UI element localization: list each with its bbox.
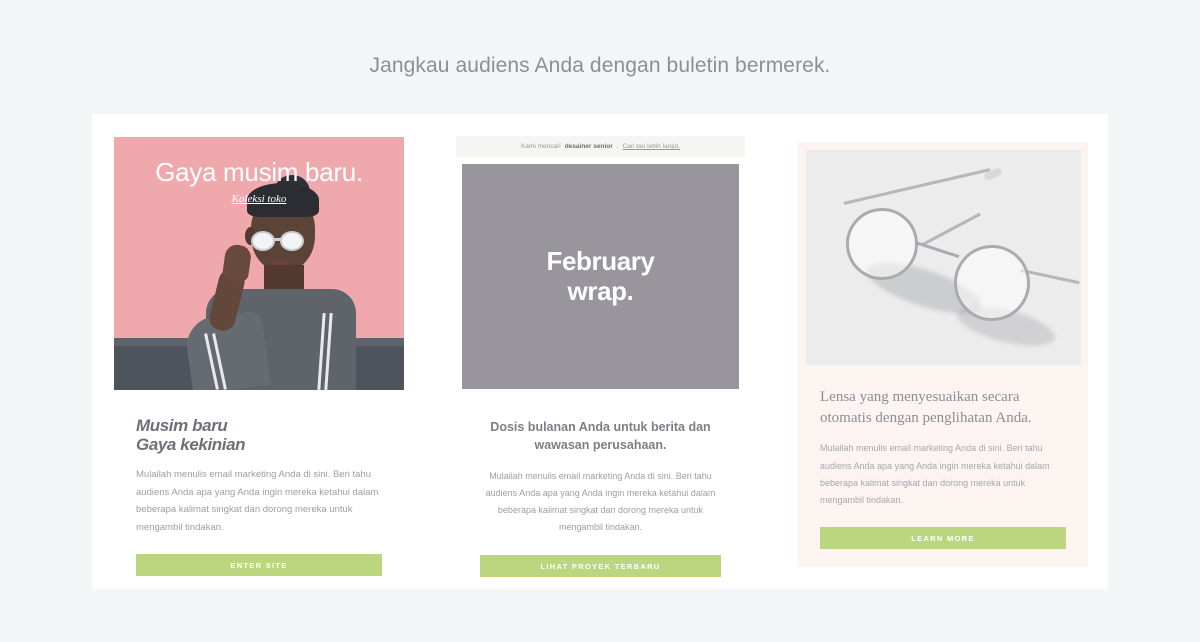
card-eyewear-cta-button[interactable]: LEARN MORE	[820, 527, 1066, 549]
banner-learn-more-link[interactable]: Cari tau lebih lanjut.	[623, 143, 680, 150]
card-wrap-hero-image: February wrap.	[462, 164, 739, 389]
card-wrap-hero-title: February wrap.	[546, 247, 654, 305]
page-headline: Jangkau audiens Anda dengan buletin berm…	[0, 54, 1200, 78]
card-fashion-hero-link[interactable]: Koleksi toko	[114, 193, 404, 205]
card-fashion-title: Musim baru Gaya kekinian	[136, 416, 382, 454]
card-wrap-top-banner: Kami mencari desainer senior . Cari tau …	[456, 136, 745, 157]
newsletter-card-monthly-wrap[interactable]: Kami mencari desainer senior . Cari tau …	[456, 136, 745, 577]
page-root: Jangkau audiens Anda dengan buletin berm…	[0, 0, 1200, 642]
card-eyewear-hero-image	[806, 150, 1081, 365]
card-wrap-cta-button[interactable]: LIHAT PROYEK TERBARU	[480, 555, 721, 577]
templates-stage: Gaya musim baru. Koleksi toko Musim baru…	[92, 114, 1108, 589]
photo-sunglasses-left-lens	[251, 231, 275, 251]
banner-lead-text: Kami mencari	[521, 143, 561, 150]
banner-period: .	[617, 143, 619, 150]
card-fashion-hero-title: Gaya musim baru.	[114, 157, 404, 188]
card-wrap-title: Dosis bulanan Anda untuk berita dan wawa…	[480, 419, 721, 455]
photo-sunglasses-bridge	[274, 238, 282, 241]
card-fashion-paragraph: Mulailah menulis email marketing Anda di…	[136, 466, 382, 536]
card-fashion-body: Musim baru Gaya kekinian Mulailah menuli…	[114, 390, 404, 576]
card-eyewear-title: Lensa yang menyesuaikan secara otomatis …	[820, 387, 1066, 428]
glasses-temple-arm	[921, 213, 981, 247]
card-fashion-cta-button[interactable]: ENTER SITE	[136, 554, 382, 576]
card-fashion-hero-image: Gaya musim baru. Koleksi toko	[114, 137, 404, 390]
card-eyewear-body: Lensa yang menyesuaikan secara otomatis …	[798, 365, 1088, 549]
card-eyewear-paragraph: Mulailah menulis email marketing Anda di…	[820, 440, 1066, 509]
card-wrap-paragraph: Mulailah menulis email marketing Anda di…	[480, 468, 721, 537]
banner-strong-text: desainer senior	[565, 143, 613, 150]
glasses-bridge	[914, 241, 959, 258]
card-wrap-body: Dosis bulanan Anda untuk berita dan wawa…	[456, 389, 745, 577]
photo-sunglasses-right-lens	[280, 231, 304, 251]
newsletter-card-fashion[interactable]: Gaya musim baru. Koleksi toko Musim baru…	[114, 137, 404, 576]
photo-hand-shape	[222, 243, 253, 282]
newsletter-card-eyewear[interactable]: Lensa yang menyesuaikan secara otomatis …	[798, 142, 1088, 567]
glasses-temple-arm	[843, 168, 990, 205]
